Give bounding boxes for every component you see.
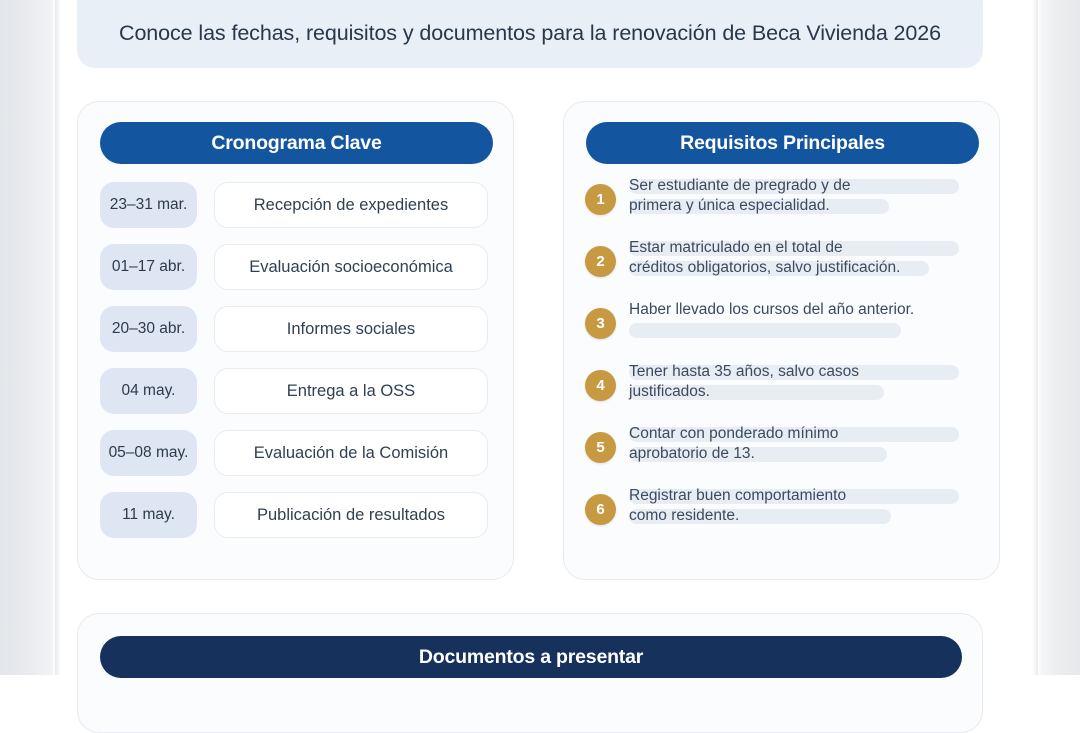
page-edge-shadow-right xyxy=(1032,0,1038,675)
cronograma-row: 11 may.Publicación de resultados xyxy=(78,492,513,538)
requisito-number-badge: 2 xyxy=(585,246,616,277)
cronograma-row: 23–31 mar.Recepción de expedientes xyxy=(78,182,513,228)
cronograma-date-chip: 11 may. xyxy=(100,492,197,538)
documentos-title: Documentos a presentar xyxy=(419,646,643,669)
requisito-text-line: primera y única especialidad. xyxy=(629,196,987,215)
requisito-row: 4Tener hasta 35 años, salvo casosjustifi… xyxy=(564,358,999,420)
requisito-text-line: Tener hasta 35 años, salvo casos xyxy=(629,362,987,381)
requisito-text: Ser estudiante de pregrado y de xyxy=(629,176,987,195)
requisito-body: Tener hasta 35 años, salvo casosjustific… xyxy=(629,362,999,402)
cronograma-activity-pill: Evaluación socioeconómica xyxy=(214,244,488,290)
page-gutter-left xyxy=(0,0,55,675)
requisito-text: Tener hasta 35 años, salvo casos xyxy=(629,362,987,381)
requisito-text-line xyxy=(629,320,987,339)
cronograma-row: 20–30 abr.Informes sociales xyxy=(78,306,513,352)
requisitos-title: Requisitos Principales xyxy=(680,132,885,155)
requisito-text: Haber llevado los cursos del año anterio… xyxy=(629,300,987,319)
cronograma-title: Cronograma Clave xyxy=(211,132,381,155)
requisito-text: justificados. xyxy=(629,382,987,401)
cronograma-activity-pill: Evaluación de la Comisión xyxy=(214,430,488,476)
requisito-text: primera y única especialidad. xyxy=(629,196,987,215)
requisito-row: 2Estar matriculado en el total decrédito… xyxy=(564,234,999,296)
page-edge-shadow-left xyxy=(55,0,61,675)
cronograma-title-banner: Cronograma Clave xyxy=(100,122,493,164)
requisito-highlight-bar xyxy=(629,323,901,338)
requisito-body: Ser estudiante de pregrado y deprimera y… xyxy=(629,176,999,216)
requisito-text: Estar matriculado en el total de xyxy=(629,238,987,257)
requisito-row: 5Contar con ponderado mínimoaprobatorio … xyxy=(564,420,999,482)
requisito-text-line: Contar con ponderado mínimo xyxy=(629,424,987,443)
cronograma-row-list: 23–31 mar.Recepción de expedientes01–17 … xyxy=(78,182,513,554)
requisito-text-line: Estar matriculado en el total de xyxy=(629,238,987,257)
requisito-number-badge: 5 xyxy=(585,432,616,463)
requisito-number-badge: 1 xyxy=(585,184,616,215)
cronograma-row: 04 may.Entrega a la OSS xyxy=(78,368,513,414)
requisito-row: 6Registrar buen comportamientocomo resid… xyxy=(564,482,999,544)
requisito-body: Contar con ponderado mínimoaprobatorio d… xyxy=(629,424,999,464)
panel-requisitos-principales: Requisitos Principales 1Ser estudiante d… xyxy=(563,101,1000,580)
requisito-row: 3Haber llevado los cursos del año anteri… xyxy=(564,296,999,358)
requisito-body: Haber llevado los cursos del año anterio… xyxy=(629,300,999,340)
cronograma-activity-pill: Recepción de expedientes xyxy=(214,182,488,228)
requisito-row: 1Ser estudiante de pregrado y deprimera … xyxy=(564,172,999,234)
document-page: Conoce las fechas, requisitos y document… xyxy=(55,0,1038,675)
requisito-text: Contar con ponderado mínimo xyxy=(629,424,987,443)
requisito-text-line: aprobatorio de 13. xyxy=(629,444,987,463)
requisito-text: Registrar buen comportamiento xyxy=(629,486,987,505)
requisito-text: créditos obligatorios, salvo justificaci… xyxy=(629,258,987,277)
requisito-body: Estar matriculado en el total decréditos… xyxy=(629,238,999,278)
cronograma-row: 05–08 may.Evaluación de la Comisión xyxy=(78,430,513,476)
cronograma-date-chip: 01–17 abr. xyxy=(100,244,197,290)
requisito-text-line: justificados. xyxy=(629,382,987,401)
infographic-viewport: Conoce las fechas, requisitos y document… xyxy=(0,0,1080,675)
requisito-text-line: créditos obligatorios, salvo justificaci… xyxy=(629,258,987,277)
requisito-text-line: como residente. xyxy=(629,506,987,525)
requisito-number-badge: 4 xyxy=(585,370,616,401)
headline-text: Conoce las fechas, requisitos y document… xyxy=(119,8,941,47)
cronograma-activity-pill: Entrega a la OSS xyxy=(214,368,488,414)
panel-cronograma-clave: Cronograma Clave 23–31 mar.Recepción de … xyxy=(77,101,514,580)
cronograma-date-chip: 23–31 mar. xyxy=(100,182,197,228)
requisitos-item-list: 1Ser estudiante de pregrado y deprimera … xyxy=(564,172,999,544)
cronograma-activity-pill: Publicación de resultados xyxy=(214,492,488,538)
documentos-title-banner: Documentos a presentar xyxy=(100,636,962,678)
requisito-number-badge: 3 xyxy=(585,308,616,339)
requisito-text-line: Ser estudiante de pregrado y de xyxy=(629,176,987,195)
cronograma-row: 01–17 abr.Evaluación socioeconómica xyxy=(78,244,513,290)
page-gutter-right xyxy=(1038,0,1080,675)
requisito-text: aprobatorio de 13. xyxy=(629,444,987,463)
requisito-body: Registrar buen comportamientocomo reside… xyxy=(629,486,999,526)
cronograma-activity-pill: Informes sociales xyxy=(214,306,488,352)
requisitos-title-banner: Requisitos Principales xyxy=(586,122,979,164)
requisito-text-line: Haber llevado los cursos del año anterio… xyxy=(629,300,987,319)
cronograma-date-chip: 20–30 abr. xyxy=(100,306,197,352)
panel-documentos-a-presentar: Documentos a presentar xyxy=(77,613,983,733)
cronograma-date-chip: 04 may. xyxy=(100,368,197,414)
requisito-text: como residente. xyxy=(629,506,987,525)
headline-banner: Conoce las fechas, requisitos y document… xyxy=(77,0,983,68)
requisito-text-line: Registrar buen comportamiento xyxy=(629,486,987,505)
cronograma-date-chip: 05–08 may. xyxy=(100,430,197,476)
requisito-number-badge: 6 xyxy=(585,494,616,525)
